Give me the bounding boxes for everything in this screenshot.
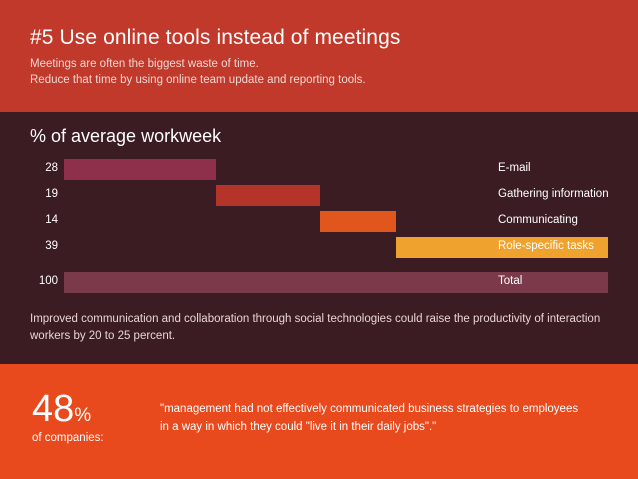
chart-row-email: 28 E-mail	[30, 159, 608, 182]
bar-label-total: Total	[498, 275, 522, 287]
bar-label-gathering-information: Gathering information	[498, 188, 609, 200]
bar-value-gathering-information: 19	[30, 188, 58, 200]
stat-block: 48% of companies:	[32, 390, 104, 444]
bar-label-role-specific-tasks: Role-specific tasks	[498, 240, 594, 252]
bar-label-email: E-mail	[498, 162, 531, 174]
header-band: #5 Use online tools instead of meetings …	[0, 0, 638, 112]
bar-value-email: 28	[30, 162, 58, 174]
bar-label-communicating: Communicating	[498, 214, 578, 226]
header-subtitle-line1: Meetings are often the biggest waste of …	[30, 56, 608, 72]
bar-track-total	[64, 272, 608, 293]
bar-gathering-information	[216, 185, 319, 206]
chart-title: % of average workweek	[30, 126, 608, 147]
chart-row-communicating: 14 Communicating	[30, 211, 608, 234]
bar-value-communicating: 14	[30, 214, 58, 226]
bar-chart: 28 E-mail 19 Gathering information 14 Co…	[30, 159, 608, 295]
footer-band: 48% of companies: "management had not ef…	[0, 364, 638, 479]
footer-quote: "management had not effectively communic…	[160, 400, 590, 436]
page-title: #5 Use online tools instead of meetings	[30, 26, 608, 50]
chart-row-role-specific-tasks: 39 Role-specific tasks	[30, 237, 608, 260]
chart-note: Improved communication and collaboration…	[30, 311, 608, 345]
stat-number: 48	[32, 388, 74, 430]
chart-row-gathering-information: 19 Gathering information	[30, 185, 608, 208]
header-subtitle-line2: Reduce that time by using online team up…	[30, 72, 608, 88]
bar-communicating	[320, 211, 396, 232]
bar-value-total: 100	[30, 275, 58, 287]
chart-section: % of average workweek 28 E-mail 19 Gathe…	[0, 112, 638, 364]
bar-email	[64, 159, 216, 180]
stat-caption: of companies:	[32, 432, 104, 444]
infographic-page: #5 Use online tools instead of meetings …	[0, 0, 638, 479]
stat-percent-sign: %	[74, 405, 91, 426]
chart-row-total: 100 Total	[30, 272, 608, 295]
bar-total	[64, 272, 608, 293]
bar-value-role-specific-tasks: 39	[30, 240, 58, 252]
